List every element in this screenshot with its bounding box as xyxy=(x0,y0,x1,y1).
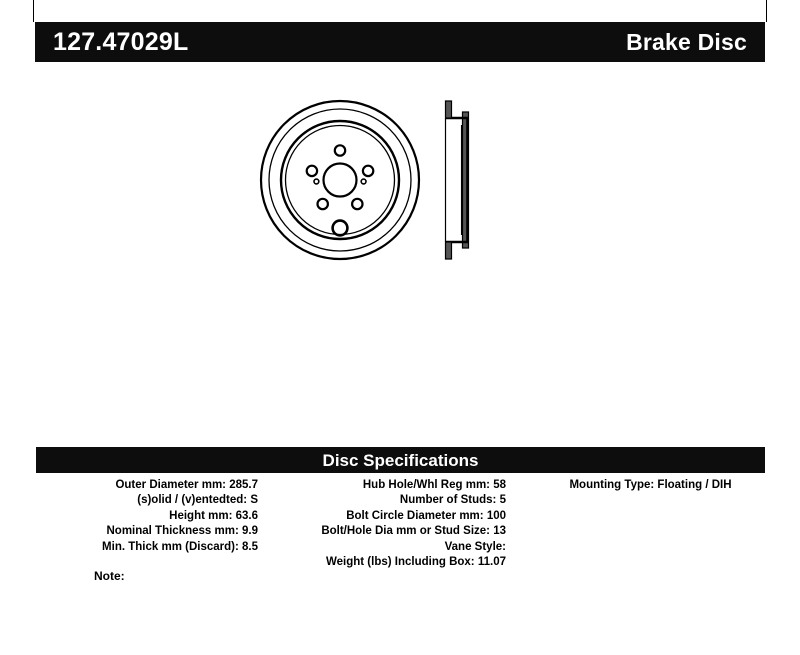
product-title: Brake Disc xyxy=(626,31,747,54)
note-row: Note: xyxy=(36,568,436,584)
spec-row: Vane Style: xyxy=(264,540,506,555)
spec-value: Floating / DIH xyxy=(657,479,731,491)
spec-row: Hub Hole/Whl Reg mm: 58 xyxy=(264,478,506,493)
page-border-right xyxy=(766,0,767,22)
spec-value: 58 xyxy=(493,479,506,491)
spec-row: Number of Studs: 5 xyxy=(264,493,506,508)
spec-row: Outer Diameter mm: 285.7 xyxy=(36,478,258,493)
technical-drawing xyxy=(255,95,545,295)
spec-label: Weight (lbs) Including Box: xyxy=(326,556,475,568)
spec-label: Bolt Circle Diameter mm: xyxy=(346,510,483,522)
header-bar: 127.47029L Brake Disc xyxy=(35,22,765,62)
spec-value: S xyxy=(250,494,258,506)
spec-row: (s)olid / (v)entedted: S xyxy=(36,493,258,508)
spec-label: (s)olid / (v)entedted: xyxy=(137,494,247,506)
brake-disc-face-view xyxy=(261,101,419,259)
disc-specifications-bar: Disc Specifications xyxy=(36,447,765,473)
spec-value: 63.6 xyxy=(236,510,258,522)
note-area: Note: xyxy=(36,568,436,584)
disc-specifications-title: Disc Specifications xyxy=(323,452,479,469)
spec-column-right: Mounting Type: Floating / DIH xyxy=(536,478,765,493)
spec-value: 8.5 xyxy=(242,541,258,553)
spec-label: Bolt/Hole Dia mm or Stud Size: xyxy=(321,525,490,537)
spec-row: Height mm: 63.6 xyxy=(36,509,258,524)
part-number: 127.47029L xyxy=(53,30,188,55)
spec-row: Min. Thick mm (Discard): 8.5 xyxy=(36,540,258,555)
spec-column-left: Outer Diameter mm: 285.7 (s)olid / (v)en… xyxy=(36,478,258,555)
brake-disc-side-profile-view xyxy=(446,101,469,259)
spec-value: 9.9 xyxy=(242,525,258,537)
spec-label: Height mm: xyxy=(169,510,232,522)
spec-value: 285.7 xyxy=(229,479,258,491)
spec-label: Mounting Type: xyxy=(569,479,654,491)
note-label: Note: xyxy=(94,569,125,583)
spec-label: Number of Studs: xyxy=(400,494,496,506)
spec-label: Hub Hole/Whl Reg mm: xyxy=(363,479,490,491)
spec-row: Nominal Thickness mm: 9.9 xyxy=(36,524,258,539)
spec-column-middle: Hub Hole/Whl Reg mm: 58 Number of Studs:… xyxy=(264,478,506,570)
spec-row: Mounting Type: Floating / DIH xyxy=(536,478,765,493)
spec-value: 13 xyxy=(493,525,506,537)
spec-label: Min. Thick mm (Discard): xyxy=(102,541,239,553)
spec-value: 100 xyxy=(487,510,506,522)
spec-row: Bolt Circle Diameter mm: 100 xyxy=(264,509,506,524)
spec-value: 11.07 xyxy=(478,556,506,568)
spec-sheet-page: 127.47029L Brake Disc xyxy=(0,0,800,655)
spec-label: Nominal Thickness mm: xyxy=(107,525,239,537)
spec-label: Vane Style: xyxy=(445,541,506,553)
spec-value: 5 xyxy=(500,494,506,506)
spec-row: Bolt/Hole Dia mm or Stud Size: 13 xyxy=(264,524,506,539)
page-border-left xyxy=(33,0,34,22)
spec-label: Outer Diameter mm: xyxy=(115,479,226,491)
